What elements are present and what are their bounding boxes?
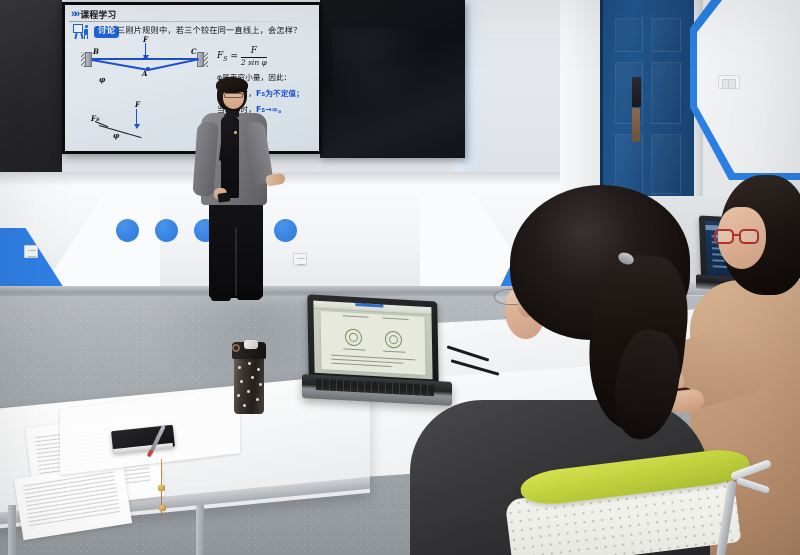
paper-text-lines	[23, 471, 121, 529]
presenter-leg-seam	[235, 228, 237, 296]
door-left-column	[560, 0, 602, 215]
door-handle[interactable]	[632, 108, 640, 142]
formula-equals: =	[230, 52, 238, 62]
presenter-eyeglasses	[224, 93, 243, 98]
formula-lhs: FS	[217, 51, 227, 63]
table-leg-left	[8, 505, 16, 555]
chair-frame-arm-lower	[736, 477, 770, 494]
discussion-badge: 讨论	[94, 26, 119, 38]
blackboard-panel-left	[0, 0, 62, 178]
presenter-shoe-right	[237, 290, 261, 300]
presentation-remote[interactable]	[217, 192, 230, 203]
presenter-lapel-pin	[234, 131, 237, 134]
slide-header-divider	[69, 21, 319, 22]
slide-header: »» 课程学习	[71, 8, 116, 21]
hexagon-wall-panel	[690, 0, 800, 180]
wall-circle-1	[116, 219, 139, 242]
fbd-force-head	[134, 124, 140, 129]
hatch-right	[204, 52, 208, 67]
fbd-force-shaft	[136, 109, 137, 125]
slide-header-title: 课程学习	[80, 8, 116, 21]
presenter-figure	[185, 78, 290, 308]
formula-denominator: 2 sin φ	[241, 59, 267, 67]
label-phi-left: φ	[99, 75, 105, 84]
beam-AC	[148, 58, 199, 70]
smart-lock-icon[interactable]	[632, 77, 641, 107]
laptop-screen[interactable]	[313, 301, 432, 380]
seal-emblem-right	[385, 331, 402, 349]
thermos-bottle[interactable]	[232, 342, 266, 414]
thermos-strap-loop	[232, 344, 240, 352]
beam-BA	[92, 59, 148, 70]
fbd-label-phi: φ	[113, 131, 119, 140]
door-panel	[615, 18, 643, 52]
presenter-shoe-left	[211, 292, 231, 301]
node-A	[146, 67, 150, 71]
classroom-scene: »» 课程学习 讨论 三刚片规则中，若三个铰在同一直线上，会怎样？ B C	[0, 0, 800, 555]
seal-emblem-left	[345, 328, 362, 346]
presenter-hair-front	[216, 77, 248, 93]
thermos-cap	[244, 340, 258, 349]
charm-bead-1	[158, 485, 165, 491]
label-B: B	[93, 47, 99, 56]
discussion-row: 讨论	[73, 24, 119, 40]
wall-circle-2	[155, 219, 178, 242]
toolbar-active-tab	[355, 303, 383, 308]
table-leg-mid	[196, 505, 204, 555]
formula-equation: FS = F 2 sin φ	[217, 47, 317, 67]
door-panel	[651, 18, 681, 52]
free-body-diagram: F FS φ	[93, 109, 157, 145]
fbd-label-F: F	[135, 100, 140, 109]
label-C: C	[191, 47, 197, 56]
power-outlet-right[interactable]	[293, 253, 307, 266]
light-switch[interactable]	[718, 75, 740, 89]
presenter-hand-right	[265, 172, 286, 186]
presentation-easel-icon	[73, 24, 90, 40]
center-laptop[interactable]	[302, 298, 452, 410]
mesh-chair[interactable]	[508, 452, 768, 555]
door-panel	[651, 62, 681, 124]
power-outlet-left[interactable]	[24, 245, 38, 258]
document-page	[321, 311, 426, 375]
blackboard-panel-right	[320, 0, 465, 158]
hatch-left	[81, 52, 85, 67]
thermos-body	[234, 356, 264, 414]
formula-fraction: F 2 sin φ	[241, 47, 267, 67]
classroom-door[interactable]	[600, 0, 695, 200]
node-top	[143, 57, 147, 61]
charm-bead-2	[159, 505, 166, 511]
formula-numerator: F	[251, 47, 257, 56]
chevron-double-right-icon: »»	[71, 9, 77, 20]
